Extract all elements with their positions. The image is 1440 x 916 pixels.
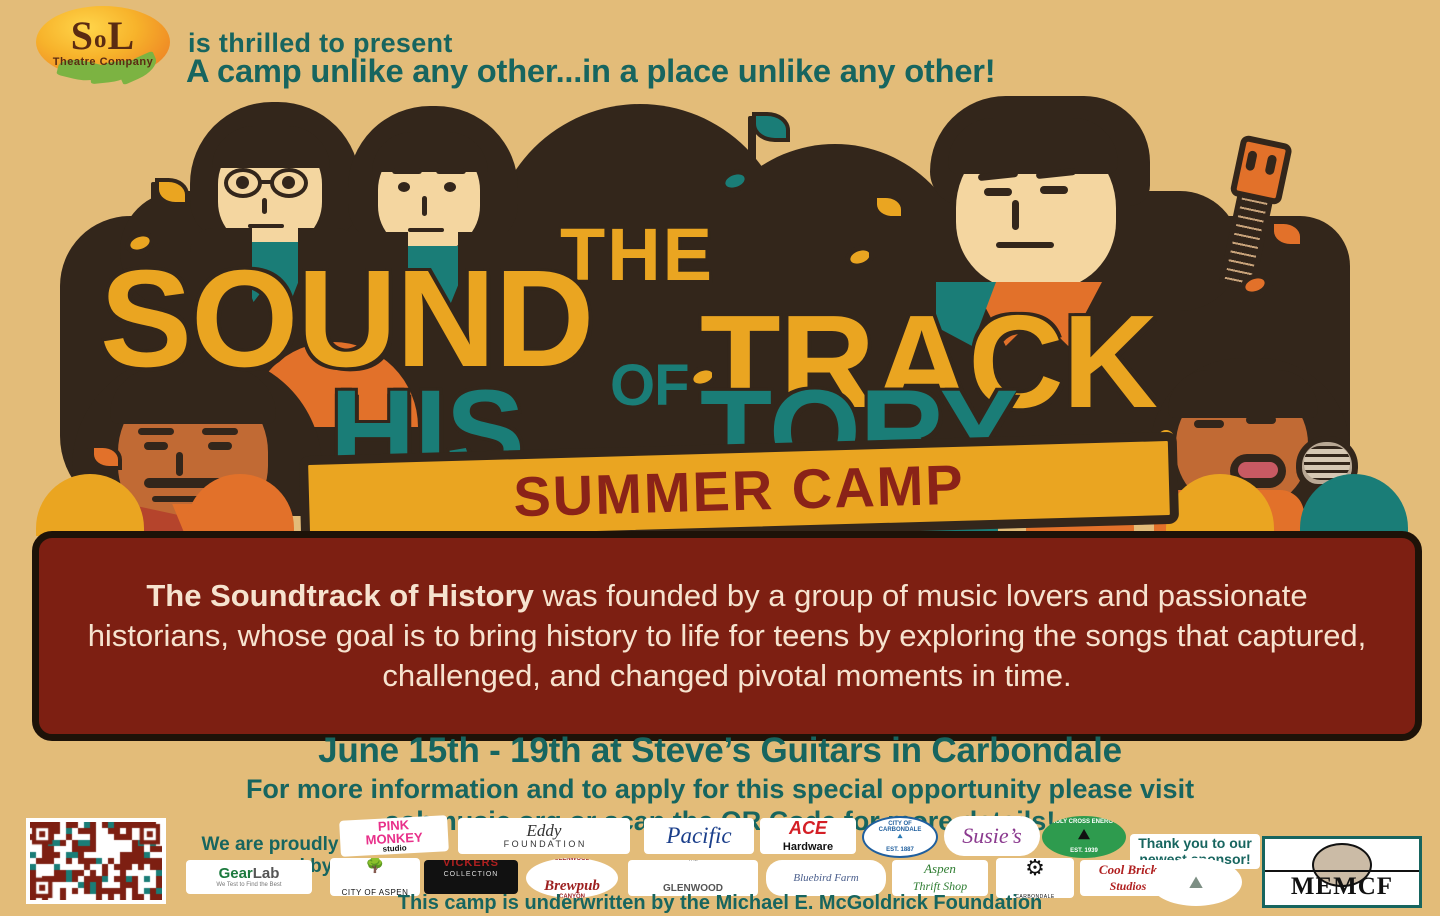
sponsor-logo-susies[interactable]: Susie’s (944, 816, 1040, 856)
sponsor-logo-holy-cross-energy[interactable]: HOLY CROSS ENERGY⛰EST. 1939 (1042, 816, 1126, 858)
music-note-icon (125, 174, 195, 264)
sponsor-logo-city-of-aspen[interactable]: 🌳CITY OF ASPEN (330, 858, 420, 896)
sponsor-logo-vickers-collection[interactable]: VICKERSCOLLECTIONASPEN & VAIL (424, 860, 518, 894)
event-dates: June 15th - 19th at Steve’s Guitars in C… (0, 731, 1440, 771)
sponsor-logo-pink-monkey[interactable]: PINKMONKEY studio (339, 815, 449, 857)
music-note-icon (720, 110, 794, 204)
sol-theatre-logo: SoL Theatre Company (28, 4, 178, 92)
sponsor-logo-ace-hardware[interactable]: ACEHardware (760, 818, 856, 854)
header: SoL Theatre Company is thrilled to prese… (0, 0, 1440, 100)
description-text: The Soundtrack of History was founded by… (39, 576, 1415, 697)
header-line-2: A camp unlike any other...in a place unl… (186, 53, 995, 90)
sponsor-logo-bluebird-farm[interactable]: Bluebird Farm (766, 860, 886, 896)
figure-elvis (920, 96, 1180, 346)
music-note-icon (688, 312, 754, 398)
illustration-stage (0, 96, 1440, 536)
poster: THE SOUND TRACK HIS OF TORY SUMMER CAMP … (0, 0, 1440, 916)
figure-beatle (348, 106, 518, 312)
logo-wordmark: SoL (28, 12, 178, 59)
sponsor-logo-pacific[interactable]: Pacific (644, 818, 754, 854)
arc-decoration-row (0, 466, 1440, 536)
event-info-line-1: For more information and to apply for th… (0, 774, 1440, 806)
underwriter-text: This camp is underwritten by the Michael… (0, 892, 1440, 915)
sponsor-logo-eddy-foundation[interactable]: EddyF O U N D A T I O N (458, 818, 630, 854)
sponsor-logo-gearlab[interactable]: GearLabWe Test to Find the Best (186, 860, 312, 894)
description-panel: The Soundtrack of History was founded by… (32, 531, 1422, 741)
sponsor-logo-aspen-thrift-shop[interactable]: AspenThrift Shop (892, 860, 988, 896)
music-note-icon (845, 192, 911, 278)
music-note-icon (1240, 218, 1310, 306)
figure-beatle-glasses (190, 102, 360, 312)
sponsor-logo-glenwood-springs[interactable]: GTHEGLENWOODSPRINGSCOLORADO (628, 860, 758, 896)
logo-tagline: Theatre Company (28, 56, 178, 68)
logo-o-letter: o (94, 26, 108, 53)
sponsor-logo-city-of-carbondale[interactable]: CITY OFCARBONDALE⛰EST. 1887 (862, 816, 938, 858)
description-lead: The Soundtrack of History (146, 578, 534, 613)
